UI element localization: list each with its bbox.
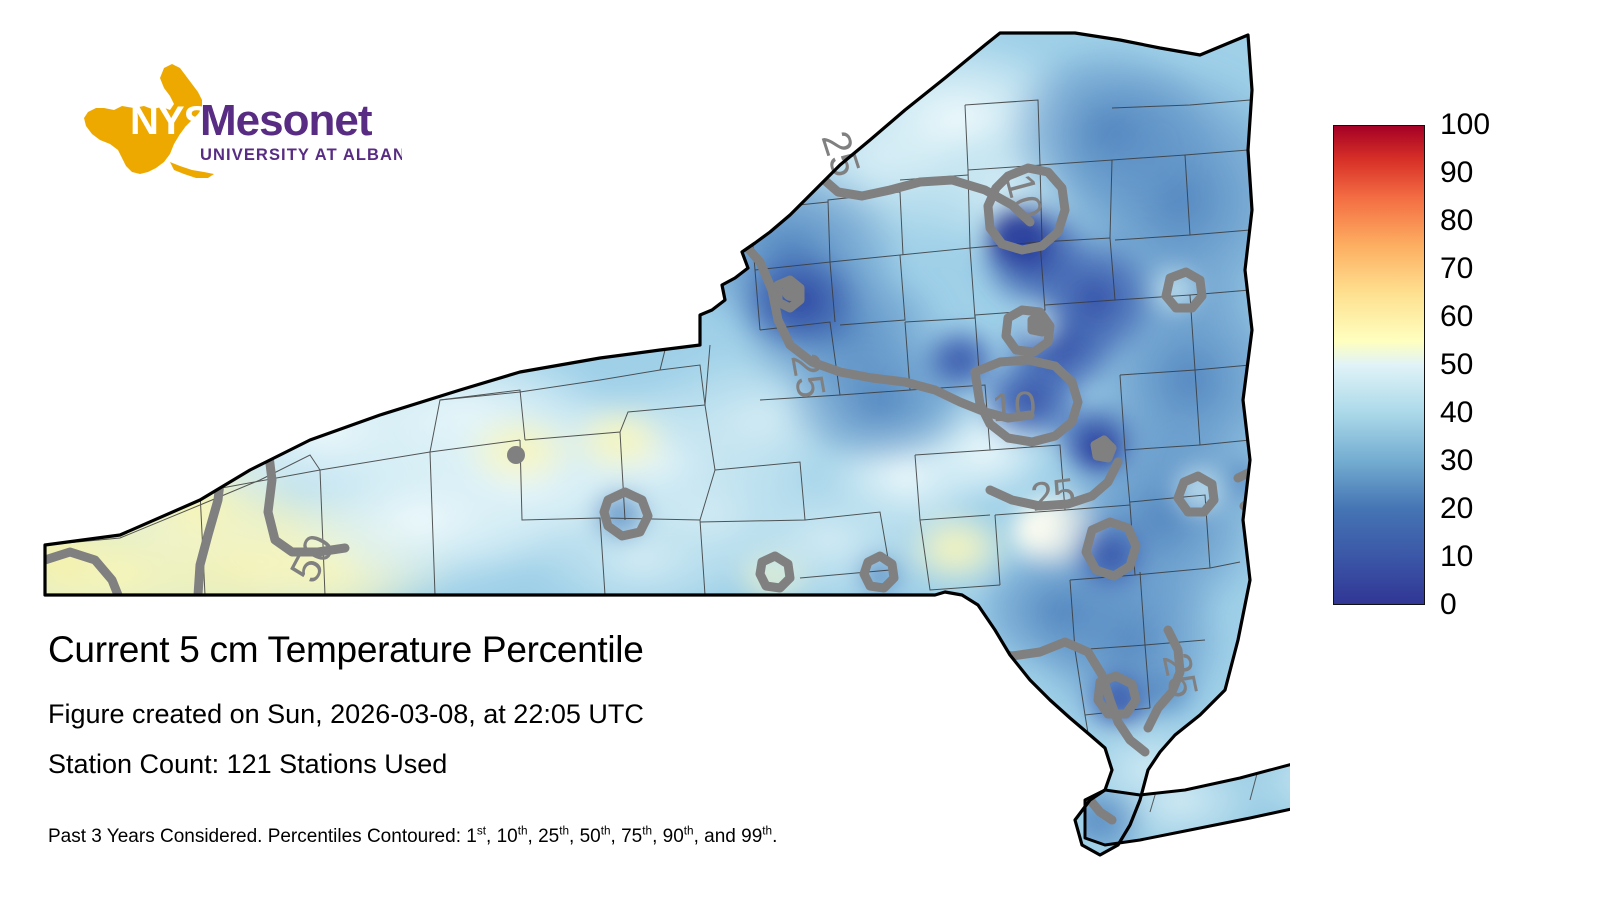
logo-nys-text: NYS xyxy=(130,99,210,143)
logo-mesonet-text: Mesonet xyxy=(200,96,373,145)
footnote-percentile-75: 75 xyxy=(621,826,642,847)
contour-label-25-c: 25 xyxy=(1028,470,1078,520)
colorbar-tick-0: 0 xyxy=(1440,590,1457,620)
station-marker xyxy=(782,283,800,301)
nys-mesonet-logo: NYS Mesonet UNIVERSITY AT ALBANY xyxy=(52,62,402,182)
colorbar-tick-80: 80 xyxy=(1440,206,1473,236)
footnote-ordinal-suffix: th xyxy=(684,825,694,838)
colorbar-tick-70: 70 xyxy=(1440,254,1473,284)
colorbar-tick-40: 40 xyxy=(1440,398,1473,428)
station-marker xyxy=(1092,441,1110,459)
footnote-percentile-99: 99 xyxy=(741,826,762,847)
logo-subtitle: UNIVERSITY AT ALBANY xyxy=(200,146,402,164)
figure-created-timestamp: Figure created on Sun, 2026-03-08, at 22… xyxy=(48,698,644,730)
colorbar-tick-labels: 1009080706050403020100 xyxy=(1440,110,1560,620)
footnote-ordinal-suffix: th xyxy=(559,825,569,838)
station-count-label: Station Count: 121 Stations Used xyxy=(48,748,447,780)
colorbar-tick-90: 90 xyxy=(1440,158,1473,188)
footnote-ordinal-suffix: st xyxy=(477,825,486,838)
colorbar-tick-60: 60 xyxy=(1440,302,1473,332)
footnote-percentile-25: 25 xyxy=(538,826,559,847)
contour-label-10-c: 10 xyxy=(990,384,1037,431)
page-title: Current 5 cm Temperature Percentile xyxy=(48,628,643,672)
contour-footnote: Past 3 Years Considered. Percentiles Con… xyxy=(48,825,777,849)
colorbar-tick-10: 10 xyxy=(1440,542,1473,572)
colorbar-tick-100: 100 xyxy=(1440,110,1490,140)
contour-label-25-w: 25 xyxy=(782,350,833,401)
colorbar-tick-20: 20 xyxy=(1440,494,1473,524)
contour-label-25-se: 25 xyxy=(1154,649,1206,702)
footnote-percentile-10: 10 xyxy=(497,826,518,847)
colorbar-gradient xyxy=(1333,125,1425,605)
footnote-ordinal-suffix: th xyxy=(642,825,652,838)
footnote-ordinal-suffix: th xyxy=(762,825,772,838)
colorbar-tick-50: 50 xyxy=(1440,350,1473,380)
footnote-ordinal-suffix: th xyxy=(518,825,528,838)
station-marker xyxy=(507,446,525,464)
footnote-percentile-1: 1 xyxy=(466,826,477,847)
colorbar-tick-30: 30 xyxy=(1440,446,1473,476)
footnote-percentile-90: 90 xyxy=(663,826,684,847)
station-marker xyxy=(1029,317,1045,333)
footnote-ordinal-suffix: th xyxy=(601,825,611,838)
footnote-percentile-50: 50 xyxy=(580,826,601,847)
colorbar-panel: 1009080706050403020100 xyxy=(1325,110,1575,620)
